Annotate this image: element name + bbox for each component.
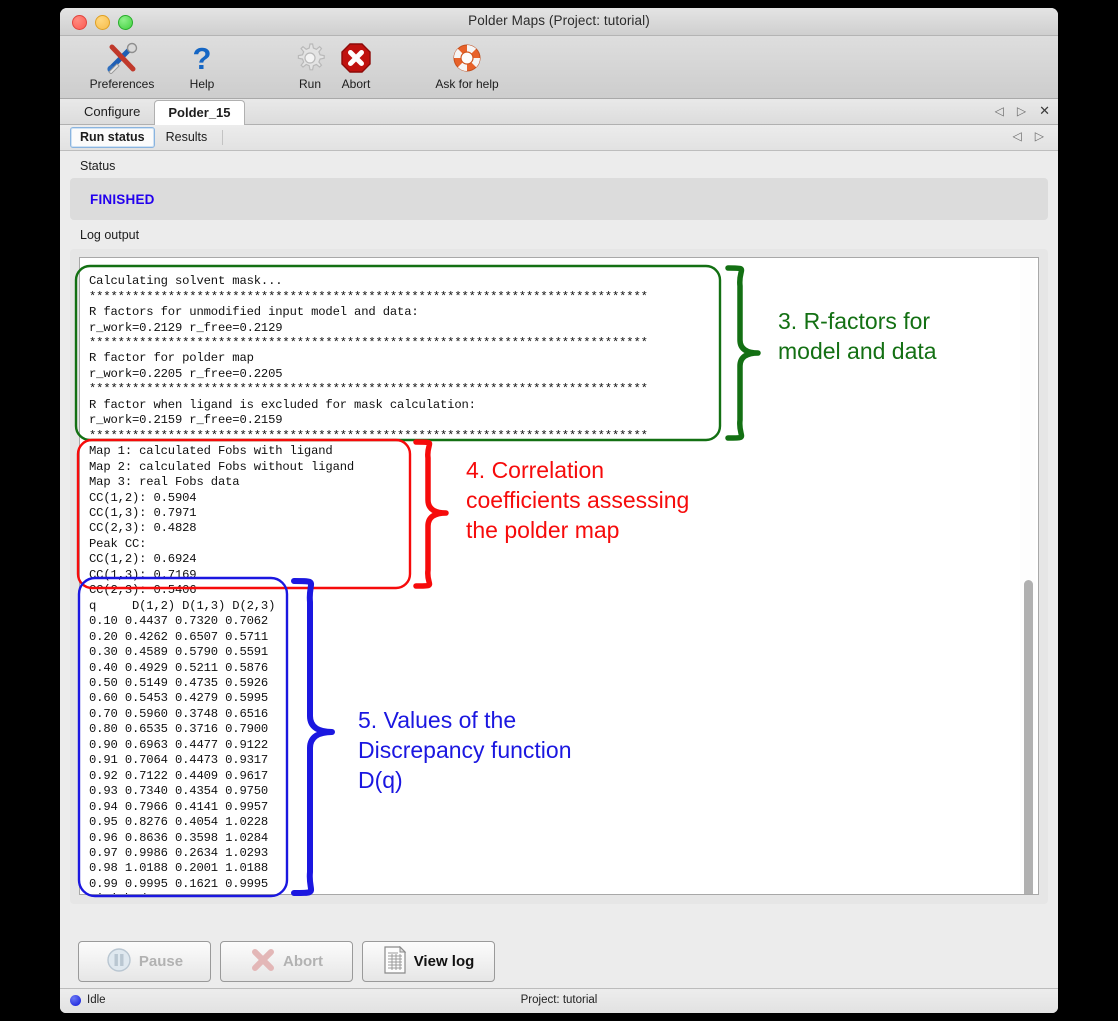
question-mark-icon: ? <box>158 40 246 76</box>
toolbar: Preferences ? Help Run <box>60 36 1058 99</box>
status-badge: FINISHED <box>70 192 155 207</box>
toolbar-button-help[interactable]: ? Help <box>158 40 246 91</box>
secondary-tab-bar: Run status Results ◁ ▷ <box>60 125 1058 151</box>
tab-next-icon[interactable]: ▷ <box>1035 129 1044 143</box>
abort-button[interactable]: Abort <box>220 941 353 982</box>
toolbar-label: Ask for help <box>412 77 522 91</box>
log-section-label: Log output <box>70 220 1048 247</box>
tab-prev-icon[interactable]: ◁ <box>1013 129 1022 143</box>
pause-button[interactable]: Pause <box>78 941 211 982</box>
toolbar-label: Help <box>158 77 246 91</box>
view-log-button[interactable]: View log <box>362 941 495 982</box>
annotation-outline-blue <box>77 576 289 898</box>
annotation-text-blue: 5. Values of the Discrepancy function D(… <box>358 705 572 795</box>
log-scrollbar[interactable] <box>1020 259 1036 893</box>
status-bar-project: Project: tutorial <box>60 994 1058 1006</box>
annotation-outline-red <box>76 438 412 590</box>
annotation-text-green: 3. R-factors for model and data <box>778 306 937 366</box>
pause-button-label: Pause <box>139 953 183 970</box>
svg-text:?: ? <box>193 42 212 74</box>
status-section-label: Status <box>70 151 1048 178</box>
action-button-row: Pause Abort <box>78 941 495 982</box>
tab-run-status[interactable]: Run status <box>70 127 155 148</box>
toolbar-label: Abort <box>312 77 400 91</box>
toolbar-button-preferences[interactable]: Preferences <box>78 40 166 91</box>
abort-button-label: Abort <box>283 953 323 970</box>
tab-results[interactable]: Results <box>157 128 217 147</box>
tab-next-icon[interactable]: ▷ <box>1017 104 1026 118</box>
primary-tab-nav: ◁ ▷ ✕ <box>995 103 1050 119</box>
annotation-brace-blue <box>282 576 350 898</box>
annotation-text-red: 4. Correlation coefficients assessing th… <box>466 455 689 545</box>
toolbar-label: Preferences <box>78 77 166 91</box>
annotation-brace-green <box>714 264 772 442</box>
secondary-tab-nav: ◁ ▷ <box>1013 129 1044 143</box>
stop-x-icon <box>312 40 400 76</box>
annotation-brace-red <box>404 438 462 590</box>
tab-close-icon[interactable]: ✕ <box>1039 103 1050 119</box>
tab-polder-15[interactable]: Polder_15 <box>154 100 244 125</box>
tab-separator <box>222 130 223 145</box>
title-bar: Polder Maps (Project: tutorial) <box>60 8 1058 36</box>
window-title: Polder Maps (Project: tutorial) <box>60 13 1058 28</box>
tab-configure[interactable]: Configure <box>70 99 154 124</box>
tools-icon <box>78 40 166 76</box>
document-icon <box>383 946 407 978</box>
annotation-outline-green <box>74 264 722 442</box>
view-log-button-label: View log <box>414 953 475 970</box>
pause-icon <box>106 947 132 977</box>
log-scrollbar-thumb[interactable] <box>1024 580 1033 895</box>
primary-tab-bar: Configure Polder_15 ◁ ▷ ✕ <box>60 99 1058 125</box>
status-box: FINISHED <box>70 178 1048 220</box>
x-icon <box>250 947 276 977</box>
toolbar-button-abort[interactable]: Abort <box>312 40 400 91</box>
toolbar-button-ask-for-help[interactable]: Ask for help <box>412 40 522 91</box>
lifebuoy-icon <box>412 40 522 76</box>
tab-prev-icon[interactable]: ◁ <box>995 104 1004 118</box>
status-bar: Idle Project: tutorial <box>60 988 1058 1013</box>
